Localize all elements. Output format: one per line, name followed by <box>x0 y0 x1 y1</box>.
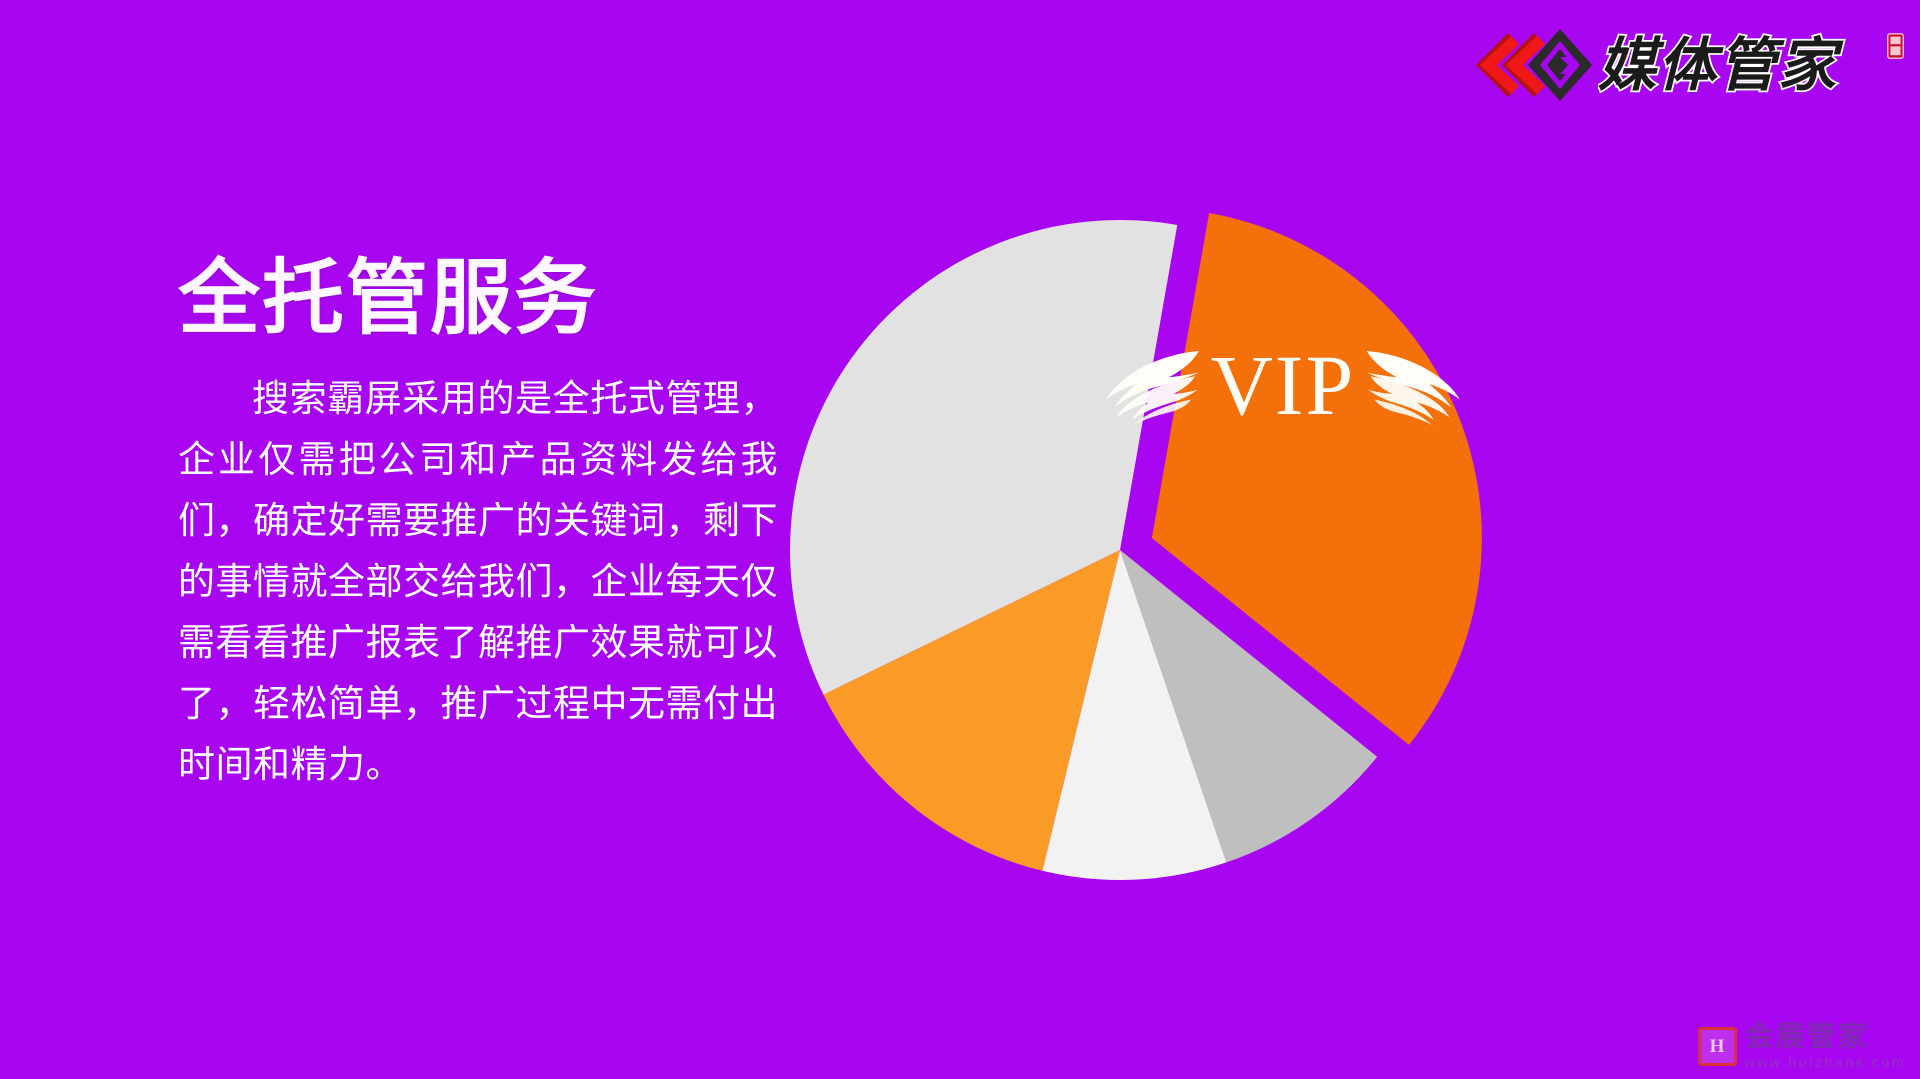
watermark-texts: 会展管家 www.huizhans.com <box>1745 1023 1906 1069</box>
page-title: 全托管服务 <box>178 253 598 345</box>
body-copy: 搜索霸屏采用的是全托式管理，企业仅需把公司和产品资料发给我们，确定好需要推广的关… <box>178 368 778 795</box>
slide-root: 媒体管家 全托管服务 搜索霸屏采用的是全托式管理，企业仅需把公司和产品资料发给我… <box>0 0 1920 1079</box>
huizhans-h-icon: H <box>1698 1027 1737 1066</box>
body-paragraph: 搜索霸屏采用的是全托式管理，企业仅需把公司和产品资料发给我们，确定好需要推广的关… <box>178 368 778 795</box>
watermark: H 会展管家 www.huizhans.com <box>1698 1023 1906 1069</box>
red-seal-stamp-icon <box>1887 33 1904 59</box>
watermark-url: www.huizhans.com <box>1745 1055 1906 1069</box>
watermark-title: 会展管家 <box>1745 1023 1906 1052</box>
brand-name: 媒体管家 <box>1598 27 1898 103</box>
pie-chart <box>780 60 1600 900</box>
watermark-icon-letter: H <box>1710 1037 1725 1056</box>
brand-name-text: 媒体管家 <box>1598 31 1844 99</box>
